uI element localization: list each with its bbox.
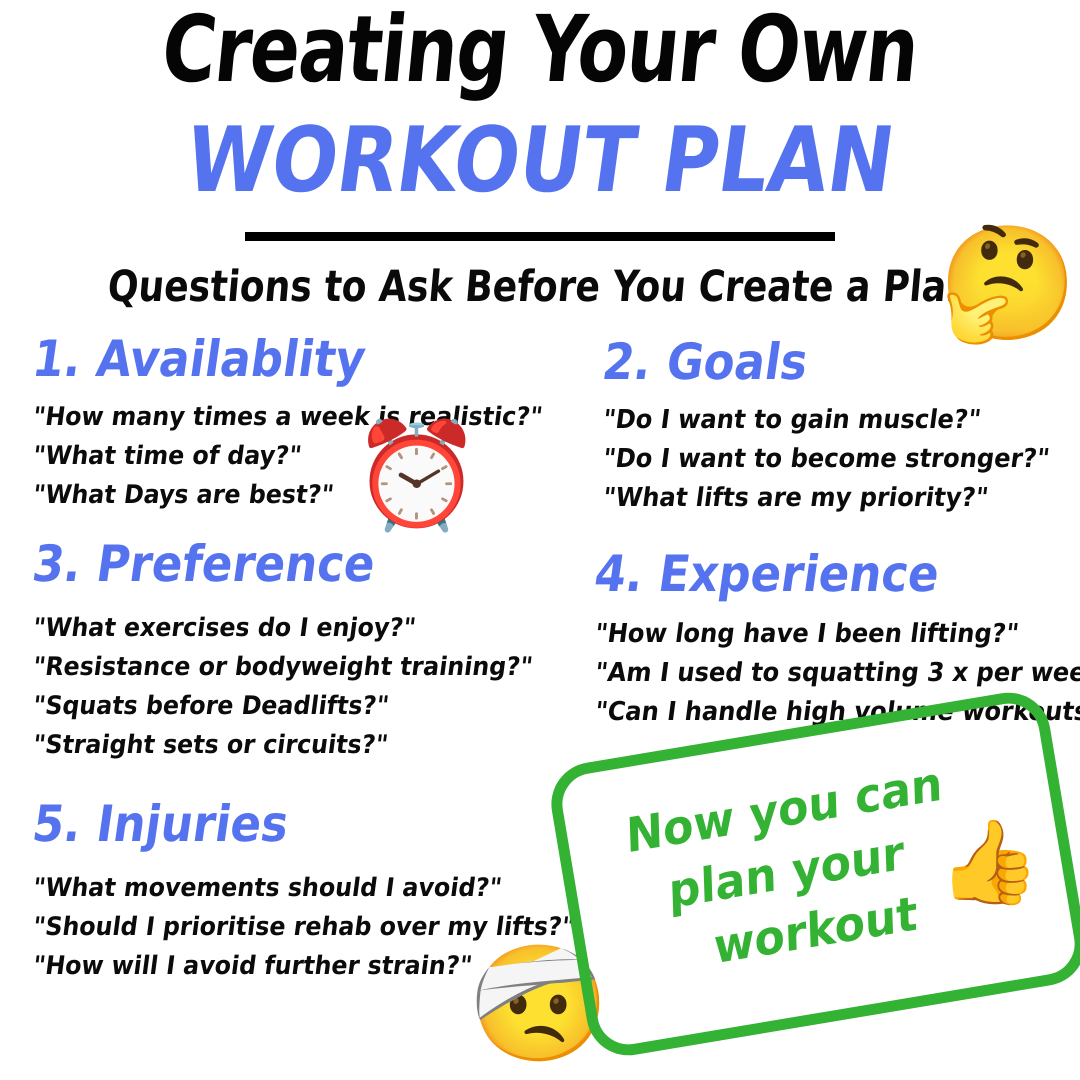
section-goals: 2. Goals "Do I want to gain muscle?" "Do… xyxy=(603,333,1080,518)
list-item: "What movements should I avoid?" xyxy=(30,869,576,908)
section-availability: 1. Availablity "How many times a week is… xyxy=(33,330,581,515)
list-item: "Squats before Deadlifts?" xyxy=(30,687,534,726)
list-item: "Straight sets or circuits?" xyxy=(30,726,534,765)
section-heading: 1. Availablity xyxy=(29,330,530,388)
infographic-poster: Creating Your Own WORKOUT PLAN Questions… xyxy=(0,0,1080,1080)
list-item: "Do I want to gain muscle?" xyxy=(600,401,1051,440)
page-tagline: Questions to Ask Before You Create a Pla… xyxy=(84,261,996,313)
page-title-line2: WORKOUT PLAN xyxy=(69,114,1011,208)
list-item: "What exercises do I enjoy?" xyxy=(30,609,534,648)
list-item: "What lifts are my priority?" xyxy=(600,479,1051,518)
alarm-clock-icon: ⏰ xyxy=(352,423,482,527)
question-list: "What exercises do I enjoy?" "Resistance… xyxy=(33,609,570,765)
thumbs-up-icon: 👍 xyxy=(938,822,1040,904)
section-heading: 3. Preference xyxy=(29,535,521,593)
section-preference: 3. Preference "What exercises do I enjoy… xyxy=(33,535,570,765)
list-item: "Am I used to squatting 3 x per week?" xyxy=(592,654,1080,693)
list-item: "How long have I been lifting?" xyxy=(592,615,1080,654)
list-item: "Resistance or bodyweight training?" xyxy=(30,648,534,687)
list-item: "Do I want to become stronger?" xyxy=(600,440,1051,479)
title-divider xyxy=(245,232,835,241)
section-heading: 5. Injuries xyxy=(29,795,561,853)
section-heading: 4. Experience xyxy=(591,545,1080,603)
question-list: "How many times a week is realistic?" "W… xyxy=(33,398,581,515)
section-heading: 2. Goals xyxy=(599,333,1039,391)
question-list: "Do I want to gain muscle?" "Do I want t… xyxy=(603,401,1080,518)
thinking-face-icon: 🤔 xyxy=(938,228,1077,340)
page-title-line1: Creating Your Own xyxy=(103,2,976,98)
